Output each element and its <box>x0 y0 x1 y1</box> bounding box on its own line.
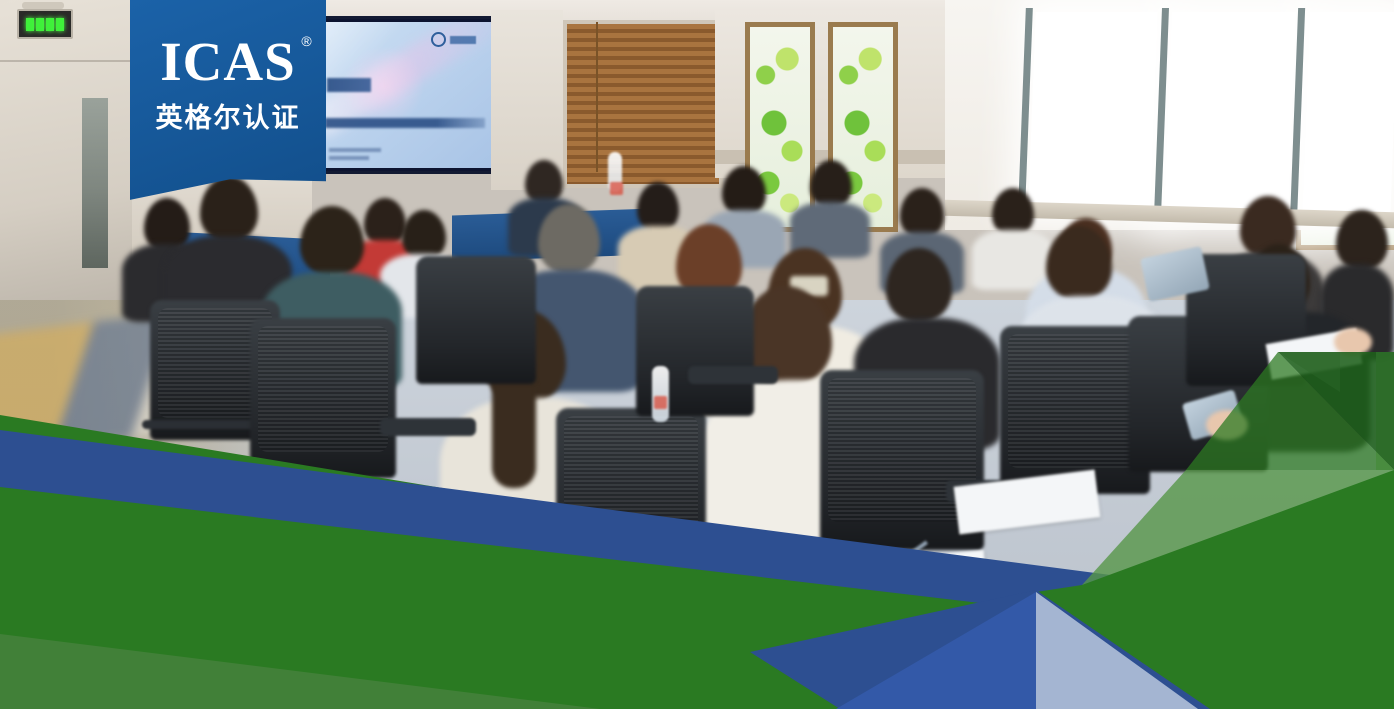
door <box>82 98 108 268</box>
exit-glyph <box>36 18 44 31</box>
logo-lockup: ICAS ® 英格尔认证 <box>130 34 326 135</box>
logo-wordmark-text: ICAS <box>160 31 295 92</box>
registered-trademark-icon: ® <box>301 34 312 48</box>
chair-mesh <box>258 326 388 452</box>
chair-arm <box>548 556 718 565</box>
office-chair <box>416 256 536 384</box>
chair-tablet-arm <box>380 418 476 436</box>
attendee-head <box>900 188 944 238</box>
exit-glyph <box>26 18 34 31</box>
attendee-head <box>637 182 679 232</box>
attendee-head <box>300 206 364 276</box>
exit-sign-bracket <box>22 2 64 9</box>
projection-screen <box>317 22 491 168</box>
chair-tablet-arm <box>688 366 778 384</box>
attendee-head <box>992 188 1034 236</box>
banner-canvas: ICAS ® 英格尔认证 <box>0 0 1394 709</box>
emergency-exit-sign-icon <box>17 9 73 39</box>
attendee-head <box>722 166 766 216</box>
slide-logo-icon <box>431 33 477 46</box>
wooden-blinds-window <box>563 20 723 188</box>
wall-seam <box>0 60 132 62</box>
attendee-head <box>402 210 446 260</box>
exit-glyph <box>46 18 54 31</box>
exit-sign-glyphs <box>26 18 64 31</box>
logo-wordmark: ICAS ® <box>160 34 295 89</box>
daylight-window <box>1028 12 1158 208</box>
ponytail <box>492 368 536 488</box>
slide-footer-text <box>329 156 369 160</box>
left-wall <box>0 0 132 330</box>
attendee-head <box>1336 210 1388 270</box>
logo-chinese-name: 英格尔认证 <box>130 96 326 135</box>
chair-mesh <box>564 416 698 550</box>
slide-subtitle-text <box>325 118 485 128</box>
slide-logo-wordmark <box>450 36 476 44</box>
slide-logo-ring-icon <box>431 32 446 47</box>
hand <box>1334 328 1372 356</box>
slide-title-text <box>327 78 371 92</box>
daylight-window <box>1164 12 1296 218</box>
attendee-head <box>810 160 852 208</box>
chair-mesh <box>1008 334 1142 468</box>
projection-screen-frame <box>311 16 497 174</box>
water-bottle <box>608 152 622 192</box>
blinds-pull-cord <box>596 22 598 172</box>
daylight-window <box>1302 12 1394 226</box>
slide-footer-text <box>329 148 381 152</box>
water-bottle <box>652 366 669 422</box>
exit-glyph <box>56 18 64 31</box>
attendee-head <box>364 198 406 246</box>
hand <box>1206 410 1248 440</box>
icas-logo-banner: ICAS ® 英格尔认证 <box>130 0 326 206</box>
